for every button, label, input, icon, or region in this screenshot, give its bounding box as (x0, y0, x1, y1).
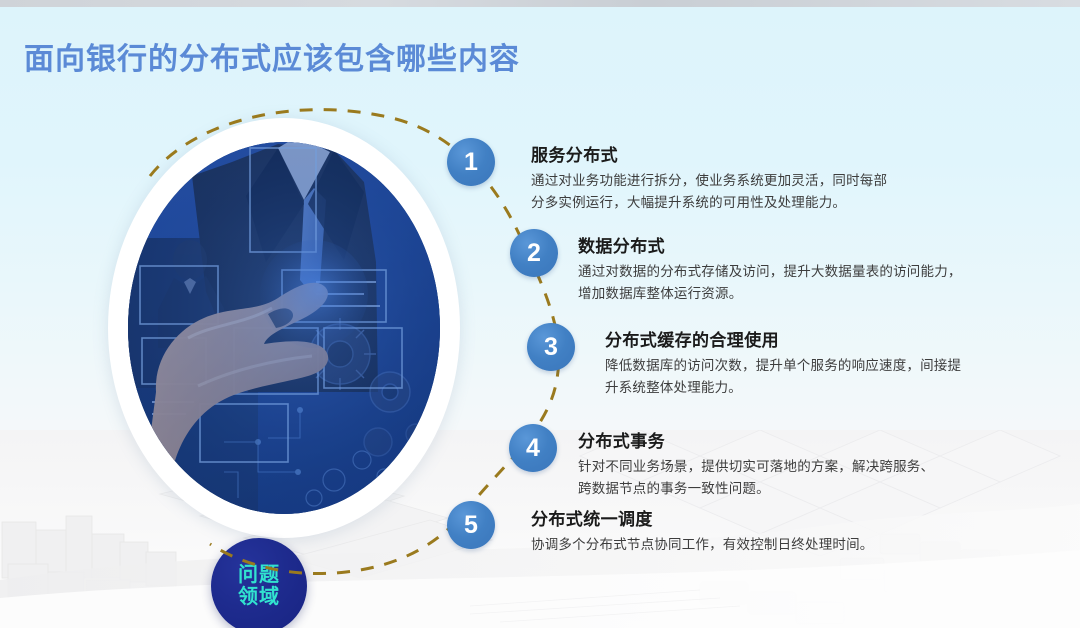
item-number-1: 1 (447, 138, 495, 186)
badge-line-2: 领域 (238, 586, 280, 608)
top-edge-bar (0, 0, 1080, 7)
item-number-3-text: 3 (544, 333, 558, 362)
item-title-2: 数据分布式 (578, 232, 962, 257)
item-number-4: 4 (509, 424, 557, 472)
item-title-5: 分布式统一调度 (531, 505, 874, 530)
item-block-3: 分布式缓存的合理使用 降低数据库的访问次数，提升单个服务的响应速度，间接提 升系… (605, 326, 961, 399)
item-title-1: 服务分布式 (531, 141, 887, 166)
item-block-5: 分布式统一调度 协调多个分布式节点协同工作，有效控制日终处理时间。 (531, 505, 874, 556)
photo-disc (128, 142, 440, 514)
item-number-5: 5 (447, 501, 495, 549)
illustration-photo: 问题 领域 (108, 118, 468, 538)
item-body-5: 协调多个分布式节点协同工作，有效控制日终处理时间。 (531, 534, 874, 556)
item-number-3: 3 (527, 323, 575, 371)
item-number-2-text: 2 (527, 239, 541, 268)
item-body-1: 通过对业务功能进行拆分，使业务系统更加灵活，同时每部 分多实例运行，大幅提升系统… (531, 170, 887, 214)
item-body-4: 针对不同业务场景，提供切实可落地的方案，解决跨服务、 跨数据节点的事务一致性问题… (578, 456, 934, 500)
item-title-3: 分布式缓存的合理使用 (605, 326, 961, 351)
page-title: 面向银行的分布式应该包含哪些内容 (24, 34, 520, 78)
item-number-1-text: 1 (464, 148, 478, 177)
item-number-2: 2 (510, 229, 558, 277)
item-block-2: 数据分布式 通过对数据的分布式存储及访问，提升大数据量表的访问能力， 增加数据库… (578, 232, 962, 305)
problem-domain-badge: 问题 领域 (211, 538, 307, 628)
item-number-4-text: 4 (526, 434, 540, 463)
item-block-4: 分布式事务 针对不同业务场景，提供切实可落地的方案，解决跨服务、 跨数据节点的事… (578, 427, 934, 500)
item-body-2: 通过对数据的分布式存储及访问，提升大数据量表的访问能力， 增加数据库整体运行资源… (578, 261, 962, 305)
badge-line-1: 问题 (238, 564, 280, 586)
item-title-4: 分布式事务 (578, 427, 934, 452)
item-body-3: 降低数据库的访问次数，提升单个服务的响应速度，间接提 升系统整体处理能力。 (605, 355, 961, 399)
slide-canvas: 问题 领域 1 2 3 4 5 服务分布式 通过对业务功能进行拆分，使业务系统更… (0, 0, 1080, 628)
item-number-5-text: 5 (464, 511, 478, 540)
item-block-1: 服务分布式 通过对业务功能进行拆分，使业务系统更加灵活，同时每部 分多实例运行，… (531, 141, 887, 214)
